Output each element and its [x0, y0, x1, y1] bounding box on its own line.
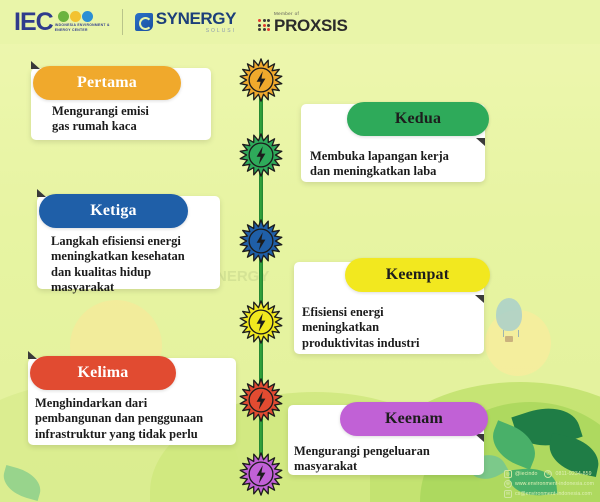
pill-label-keenam: Keenam: [385, 410, 443, 428]
pill-label-kelima: Kelima: [78, 364, 129, 382]
sun-shape-right: [485, 310, 551, 376]
pill-kelima[interactable]: Kelima: [30, 356, 176, 390]
card-body-keenam: Mengurangi pengeluaran masyarakat: [294, 444, 484, 475]
contact-email[interactable]: ✉ cs@environment-indonesia.com: [504, 490, 592, 498]
gear-1: [239, 58, 283, 102]
pill-label-pertama: Pertama: [77, 74, 137, 92]
iec-subtitle: INDONESIA ENVIRONMENT &ENERGY CENTER: [55, 23, 110, 32]
card-notch-keenam: [475, 434, 484, 442]
card-body-keempat: Efisiensi energi meningkatkan produktivi…: [302, 305, 482, 351]
header-divider: [122, 9, 123, 35]
leaf-icon-1: [511, 398, 582, 455]
infographic-canvas: IEC SYNERGY PROXSIS IEC INDONESIA ENVIRO…: [0, 0, 600, 502]
pill-keenam[interactable]: Keenam: [340, 402, 488, 436]
leaf-icon-2: [485, 420, 542, 470]
balloon-basket: [505, 336, 513, 342]
card-body-pertama: Mengurangi emisi gas rumah kaca: [52, 104, 212, 135]
contact-whatsapp[interactable]: ✆ 0811-9234-859: [544, 470, 591, 478]
instagram-icon: ◎: [504, 470, 512, 478]
website-url: www.environment-indonesia.com: [515, 481, 594, 487]
gear-4: [239, 300, 283, 344]
logo-iec: IEC INDONESIA ENVIRONMENT &ENERGY CENTER: [14, 10, 110, 35]
pill-label-ketiga: Ketiga: [90, 202, 137, 220]
header-logo-bar: IEC INDONESIA ENVIRONMENT &ENERGY CENTER…: [0, 0, 600, 44]
synergy-wordmark: SYNERGY: [156, 10, 236, 27]
leaf-icon-6: [0, 465, 45, 501]
proxsis-dot-grid-icon: [258, 19, 270, 31]
gear-6: [239, 452, 283, 496]
card-body-kedua: Membuka lapangan kerja dan meningkatkan …: [310, 149, 486, 180]
card-body-kelima: Menghindarkan dari pembangunan dan pengg…: [35, 396, 240, 442]
card-notch-keempat: [475, 295, 484, 303]
email-address: cs@environment-indonesia.com: [515, 491, 592, 497]
whatsapp-number: 0811-9234-859: [555, 471, 591, 477]
gear-5: [239, 378, 283, 422]
pill-label-kedua: Kedua: [395, 110, 441, 128]
pill-ketiga[interactable]: Ketiga: [39, 194, 188, 228]
contact-footer: ◎ @iecindo ✆ 0811-9234-859 ⊕ www.environ…: [504, 470, 594, 498]
contact-website[interactable]: ⊕ www.environment-indonesia.com: [504, 480, 594, 488]
contact-instagram[interactable]: ◎ @iecindo: [504, 470, 538, 478]
pill-keempat[interactable]: Keempat: [345, 258, 490, 292]
globe-icon: ⊕: [504, 480, 512, 488]
synergy-mark-icon: [135, 13, 153, 31]
pill-label-keempat: Keempat: [386, 266, 450, 284]
iec-acronym: IEC: [14, 10, 53, 35]
proxsis-wordmark: PROXSIS: [274, 17, 347, 34]
gear-3: [239, 219, 283, 263]
proxsis-member-of-label: Member of: [274, 11, 347, 16]
pill-kedua[interactable]: Kedua: [347, 102, 489, 136]
hot-air-balloon-icon: [496, 298, 522, 331]
iec-emblem-icon: [58, 11, 110, 22]
envelope-icon: ✉: [504, 490, 512, 498]
synergy-subtitle: SOLUSI: [156, 28, 236, 34]
card-notch-kedua: [476, 138, 485, 146]
balloon-line-right: [518, 330, 519, 337]
pill-pertama[interactable]: Pertama: [33, 66, 181, 100]
instagram-handle: @iecindo: [515, 471, 538, 477]
card-body-ketiga: Langkah efisiensi energi meningkatkan ke…: [51, 234, 227, 295]
card-notch-pertama: [31, 61, 40, 69]
logo-synergy: SYNERGY SOLUSI: [135, 10, 236, 34]
card-notch-ketiga: [37, 189, 46, 197]
whatsapp-icon: ✆: [544, 470, 552, 478]
balloon-line-left: [503, 330, 504, 337]
gear-2: [239, 133, 283, 177]
logo-proxsis: Member of PROXSIS: [258, 11, 347, 34]
card-notch-kelima: [28, 351, 37, 359]
